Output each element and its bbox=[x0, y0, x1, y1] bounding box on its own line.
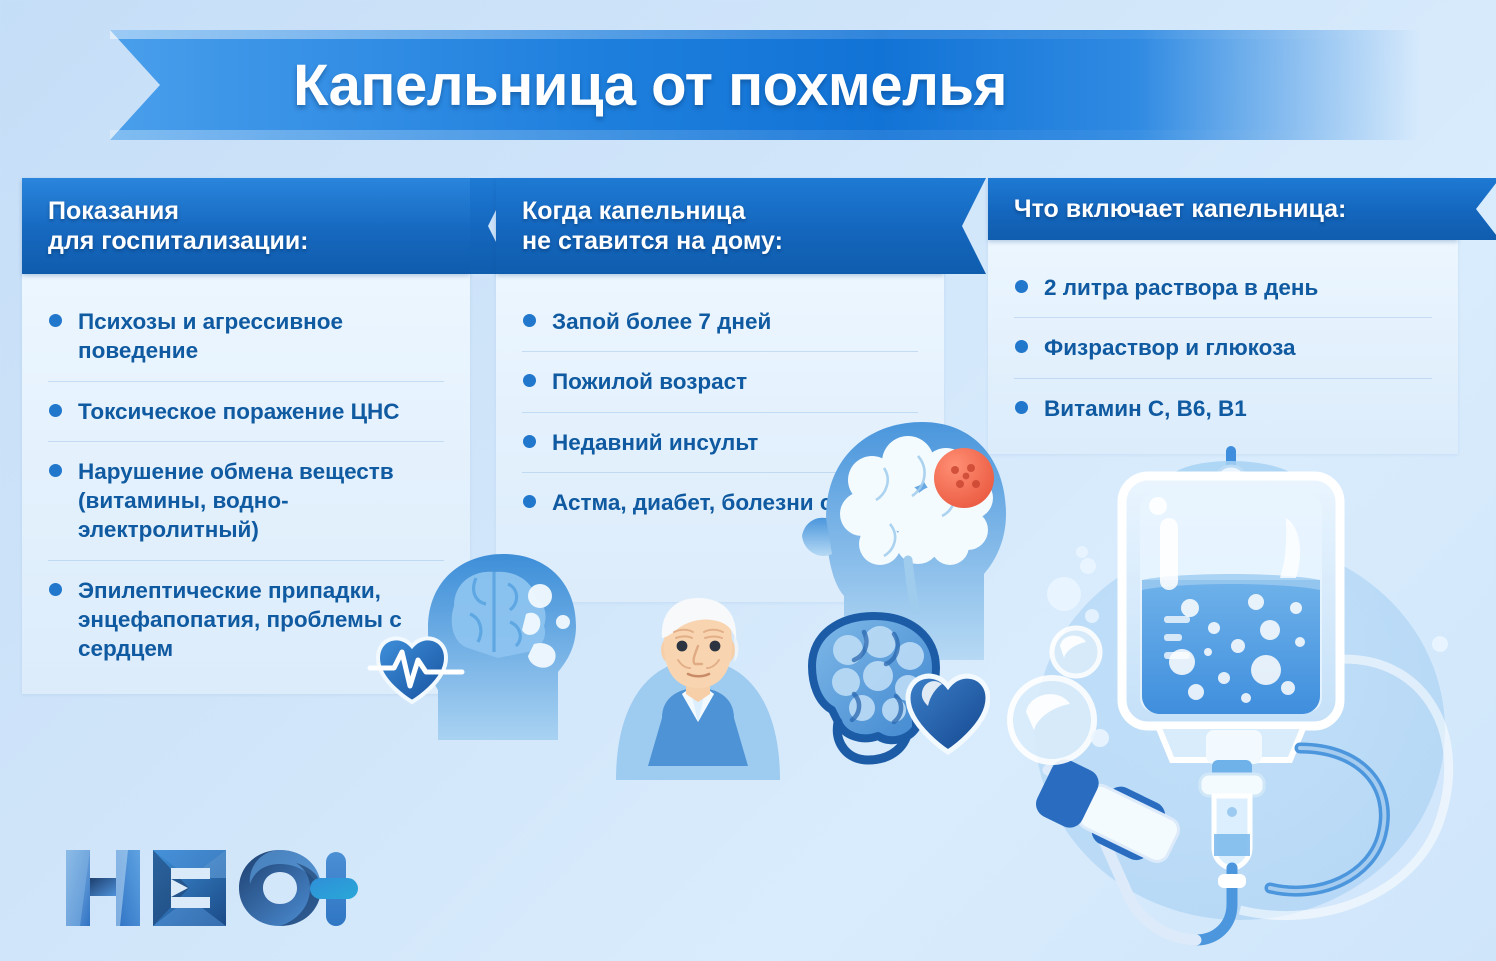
ribbon-tail-icon bbox=[944, 178, 986, 274]
page-title: Капельница от похмелья bbox=[0, 30, 1420, 140]
list-item: Астма, диабет, болезни сердца bbox=[522, 473, 918, 532]
list-item: Пожилой возраст bbox=[522, 352, 918, 412]
card-contents: Что включает капельница: 2 литра раствор… bbox=[988, 178, 1458, 454]
list-item: Недавний инсульт bbox=[522, 413, 918, 473]
card-contraindications-body: Запой более 7 дней Пожилой возраст Недав… bbox=[496, 274, 944, 602]
contents-list: 2 литра раствора в день Физраствор и глю… bbox=[1014, 258, 1432, 438]
list-item: Нарушение обмена веществ (витамины, водн… bbox=[48, 442, 444, 561]
card-indications-header-line-1: Показания bbox=[48, 196, 444, 227]
card-indications-body: Психозы и агрессивное поведение Токсичес… bbox=[22, 274, 470, 694]
list-item: Токсическое поражение ЦНС bbox=[48, 382, 444, 442]
list-item: Эпилептические припадки, энцефапопатия, … bbox=[48, 561, 444, 679]
list-item: Витамин С, В6, В1 bbox=[1014, 379, 1432, 438]
card-indications-header-line-2: для госпитализации: bbox=[48, 226, 444, 257]
card-contents-body: 2 литра раствора в день Физраствор и глю… bbox=[988, 240, 1458, 454]
ribbon-tail-icon bbox=[1458, 178, 1496, 240]
list-item: Психозы и агрессивное поведение bbox=[48, 292, 444, 382]
card-indications-header: Показания для госпитализации: bbox=[22, 178, 470, 274]
logo-letter-e bbox=[153, 850, 226, 926]
list-item: Физраствор и глюкоза bbox=[1014, 318, 1432, 378]
indications-list: Психозы и агрессивное поведение Токсичес… bbox=[48, 292, 444, 678]
card-contraindications-header: Когда капельница не ставится на дому: bbox=[496, 178, 944, 274]
title-banner: Капельница от похмелья bbox=[0, 30, 1420, 140]
list-item: 2 литра раствора в день bbox=[1014, 258, 1432, 318]
card-contraindications-header-line-1: Когда капельница bbox=[522, 196, 918, 227]
iv-drip-bag-icon bbox=[1000, 430, 1496, 950]
logo-plus-icon bbox=[310, 852, 358, 926]
card-contents-header-line-1: Что включает капельница: bbox=[1014, 194, 1432, 225]
logo-letter-n bbox=[66, 850, 140, 926]
list-item: Запой более 7 дней bbox=[522, 292, 918, 352]
logo-letter-o bbox=[239, 850, 321, 926]
card-indications: Показания для госпитализации: Психозы и … bbox=[22, 178, 470, 694]
brand-logo-neo-plus bbox=[58, 838, 358, 938]
contraindications-list: Запой более 7 дней Пожилой возраст Недав… bbox=[522, 292, 918, 532]
card-contraindications-header-line-2: не ставится на дому: bbox=[522, 226, 918, 257]
elderly-man-avatar-icon bbox=[608, 598, 788, 780]
card-contents-header: Что включает капельница: bbox=[988, 178, 1458, 240]
brain-and-heart-icon bbox=[790, 610, 990, 770]
card-contraindications: Когда капельница не ставится на дому: За… bbox=[496, 178, 944, 602]
